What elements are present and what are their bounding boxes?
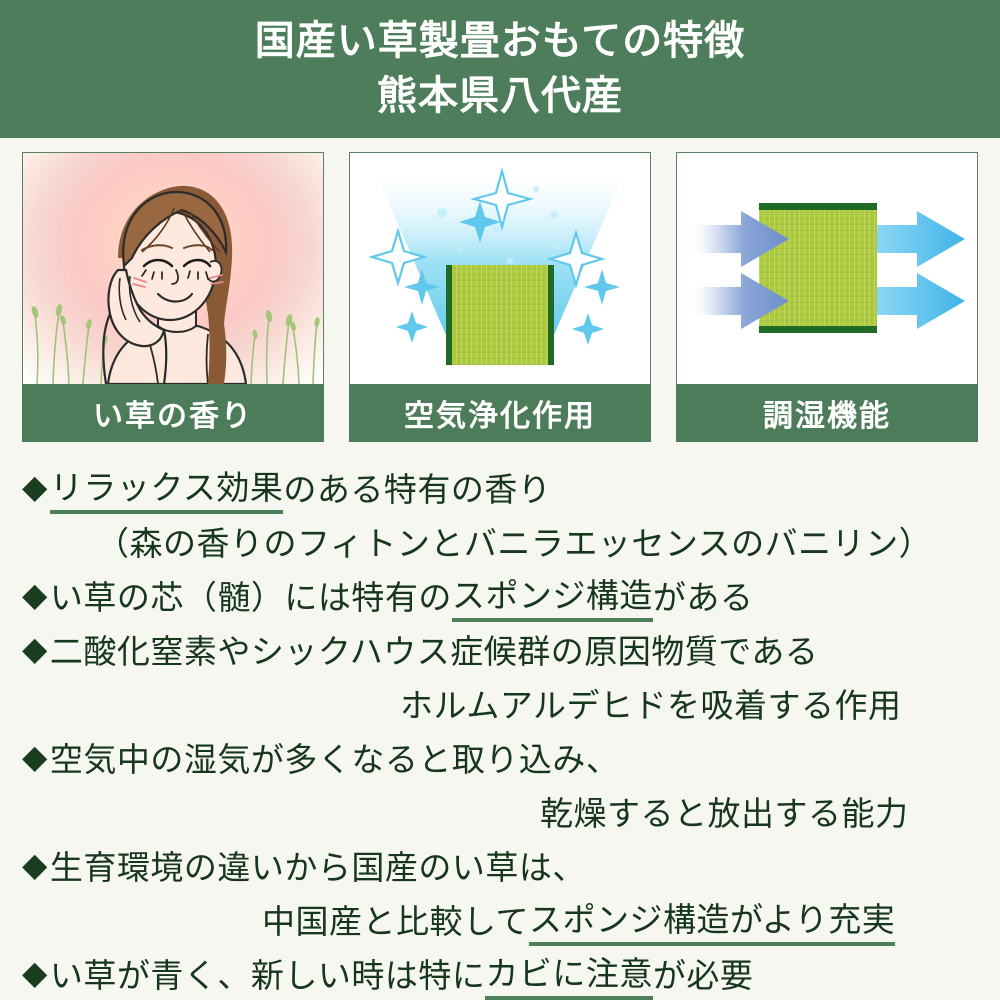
tatami-edge-top (759, 203, 877, 210)
diamond-bullet-icon: ◆ (22, 575, 48, 615)
infographic-page: 国産い草製畳おもての特徴 熊本県八代産 (0, 0, 1000, 1000)
bullet-line: ◆空気中の湿気が多くなると取り込み、 (0, 730, 1000, 784)
humidity-control-illustration (676, 152, 978, 384)
bullet-text-highlight: カビに注意 (485, 947, 653, 1000)
page-header: 国産い草製畳おもての特徴 熊本県八代産 (0, 0, 1000, 138)
tatami-edge-right (548, 265, 554, 365)
scent-illustration (22, 152, 324, 384)
feature-card-row: い草の香り (22, 152, 978, 442)
bullet-line: 乾燥すると放出する能力 (0, 784, 1000, 838)
tatami-edge-left (446, 265, 452, 365)
bullet-line: ◆い草が青く、新しい時は特にカビに注意が必要 (0, 946, 1000, 1000)
feature-bullet-list: ◆リラックス効果のある特有の香り（森の香りのフィトンとバニラエッセンスのバニリン… (0, 460, 1000, 1000)
bullet-line: ◆二酸化窒素やシックハウス症候群の原因物質である (0, 622, 1000, 676)
bullet-text: （森の香りのフィトンとバニラエッセンスのバニリン） (96, 517, 932, 565)
diamond-bullet-icon: ◆ (22, 467, 48, 507)
diamond-bullet-icon: ◆ (22, 629, 48, 669)
diamond-bullet-icon: ◆ (22, 737, 48, 777)
bullet-text: 二酸化窒素やシックハウス症候群の原因物質である (50, 625, 819, 673)
bullet-text: 生育環境の違いから国産のい草は、 (50, 841, 586, 889)
bullet-line: ◆い草の芯（髄）には特有のスポンジ構造がある (0, 568, 1000, 622)
bullet-text: い草が青く、新しい時は特に (50, 949, 486, 997)
diamond-bullet-icon: ◆ (22, 845, 48, 885)
feature-card-humidity-control[interactable]: 調湿機能 (676, 152, 978, 442)
bullet-line: （森の香りのフィトンとバニラエッセンスのバニリン） (0, 514, 1000, 568)
page-title-line2: 熊本県八代産 (377, 69, 623, 124)
tatami-square-purification (446, 265, 554, 365)
bullet-text: 乾燥すると放出する能力 (540, 787, 909, 835)
bullet-line: ◆リラックス効果のある特有の香り (0, 460, 1000, 514)
relaxing-woman-illustration (58, 174, 288, 384)
tatami-square-humidity (759, 203, 877, 333)
bullet-text-highlight: リラックス効果 (50, 461, 284, 514)
bullet-text: 空気中の湿気が多くなると取り込み、 (50, 733, 620, 781)
bullet-text-highlight: スポンジ構造がより充実 (529, 893, 895, 946)
page-title-line1: 国産い草製畳おもての特徴 (255, 14, 745, 69)
bullet-line: ◆生育環境の違いから国産のい草は、 (0, 838, 1000, 892)
feature-card-air-purification[interactable]: 空気浄化作用 (349, 152, 651, 442)
card-label-scent: い草の香り (22, 384, 324, 442)
bullet-text: い草の芯（髄）には特有の (50, 571, 452, 619)
card-label-air-purification: 空気浄化作用 (349, 384, 651, 442)
bullet-line: 中国産と比較してスポンジ構造がより充実 (0, 892, 1000, 946)
bullet-text-highlight: スポンジ構造 (452, 569, 653, 622)
bullet-text: がある (653, 571, 754, 619)
feature-card-scent[interactable]: い草の香り (22, 152, 324, 442)
bullet-line: ホルムアルデヒドを吸着する作用 (0, 676, 1000, 730)
bullet-text: が必要 (653, 949, 754, 997)
air-purification-illustration (349, 152, 651, 384)
bullet-text: ホルムアルデヒドを吸着する作用 (400, 679, 902, 727)
card-label-humidity-control: 調湿機能 (676, 384, 978, 442)
bullet-text: のある特有の香り (283, 463, 551, 511)
tatami-edge-bottom (759, 326, 877, 333)
bullet-text: 中国産と比較して (262, 895, 529, 943)
diamond-bullet-icon: ◆ (22, 953, 48, 993)
